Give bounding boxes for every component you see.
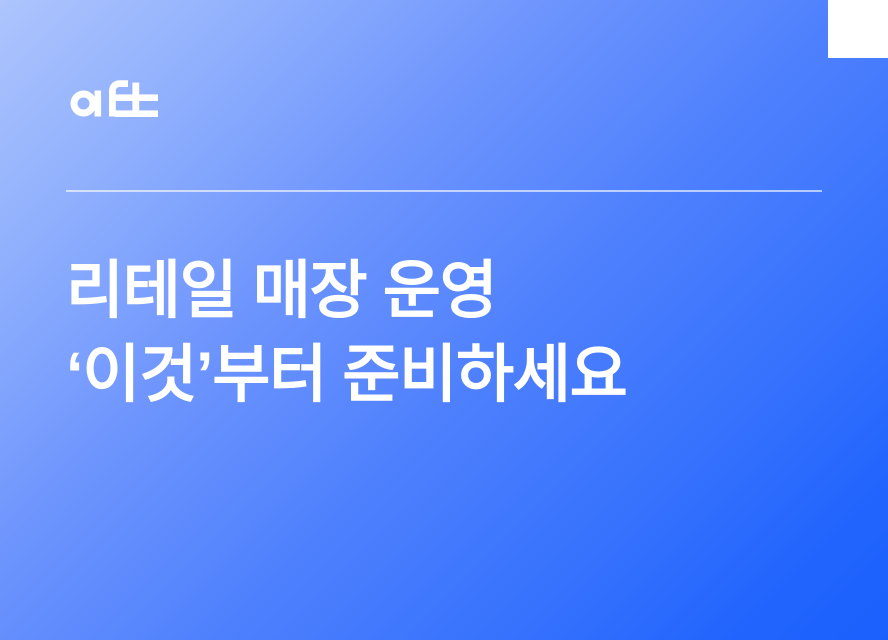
header-divider (66, 190, 822, 192)
logo-crossbar (109, 94, 158, 101)
aft-logo[interactable] (66, 78, 158, 130)
promo-card: 리테일 매장 운영 ‘이것’부터 준비하세요 (0, 0, 888, 640)
logo-letter-a-stem (95, 91, 102, 117)
headline: 리테일 매장 운영 ‘이것’부터 준비하세요 (66, 250, 846, 418)
headline-line-2: ‘이것’부터 준비하세요 (66, 334, 846, 418)
logo-underline-bar (115, 110, 158, 117)
headline-line-1: 리테일 매장 운영 (66, 250, 846, 334)
logo-letter-a (71, 91, 97, 117)
page-fold-corner (828, 0, 888, 58)
